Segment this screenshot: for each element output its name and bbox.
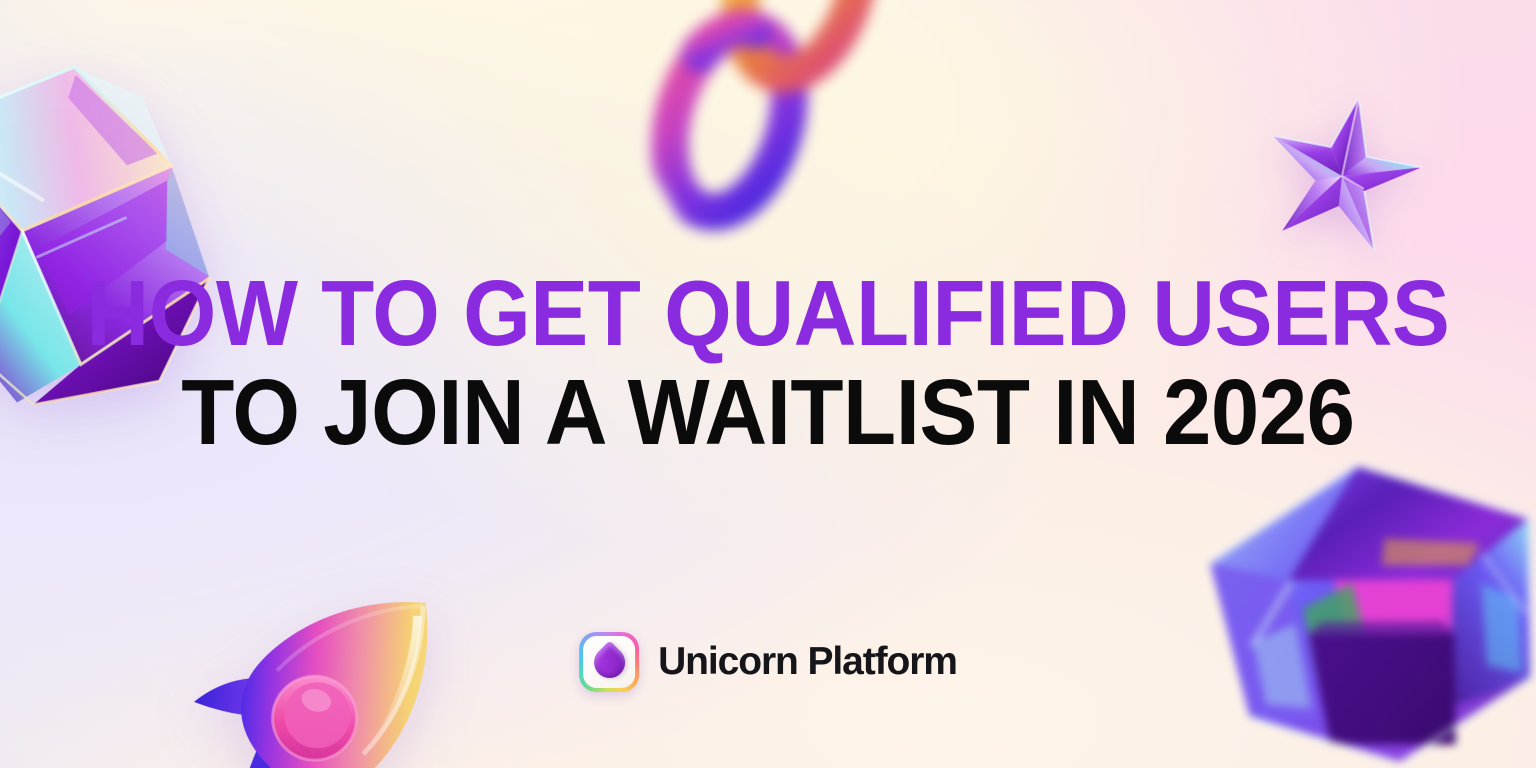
logo-wordmark: Unicorn Platform bbox=[658, 640, 957, 684]
logo-mark-inner bbox=[583, 636, 635, 688]
teardrop-icon bbox=[587, 640, 631, 684]
brand-logo-lockup[interactable]: Unicorn Platform bbox=[579, 632, 957, 692]
unicorn-platform-logo-mark-icon bbox=[579, 632, 639, 692]
headline-line-2: TO JOIN A WAITLIST IN 2026 bbox=[86, 365, 1449, 460]
headline-line-1: HOW TO GET QUALIFIED USERS bbox=[86, 266, 1449, 361]
article-cover-banner: HOW TO GET QUALIFIED USERS TO JOIN A WAI… bbox=[0, 0, 1536, 768]
page-title: HOW TO GET QUALIFIED USERS TO JOIN A WAI… bbox=[39, 266, 1497, 460]
